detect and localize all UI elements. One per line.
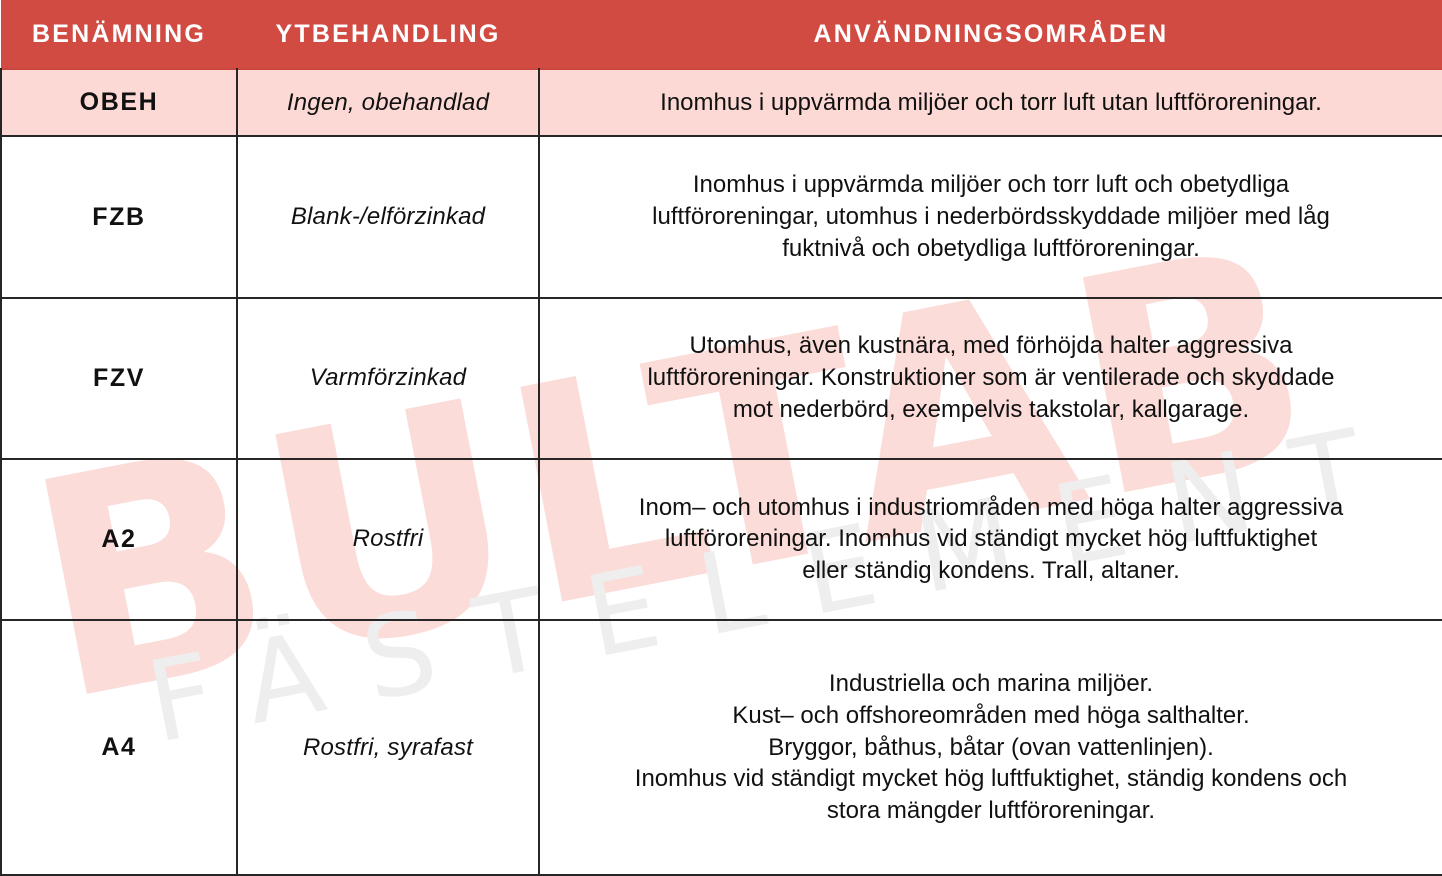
usage-line: stora mängder luftföroreningar. <box>562 795 1420 827</box>
usage-line: luftföroreningar, utomhus i nederbördssk… <box>562 201 1420 233</box>
surface-treatment-table: BENÄMNING YTBEHANDLING ANVÄNDNINGSOMRÅDE… <box>0 0 1442 876</box>
cell-anvandningsomraden: Utomhus, även kustnära, med förhöjda hal… <box>539 298 1442 459</box>
table-body: OBEHIngen, obehandladInomhus i uppvärmda… <box>1 69 1442 875</box>
usage-line: luftföroreningar. Inomhus vid ständigt m… <box>562 523 1420 555</box>
usage-line: Utomhus, även kustnära, med förhöjda hal… <box>562 330 1420 362</box>
usage-line: Bryggor, båthus, båtar (ovan vattenlinje… <box>562 732 1420 764</box>
usage-line: fuktnivå och obetydliga luftföroreningar… <box>562 233 1420 265</box>
cell-benamning: OBEH <box>1 69 237 136</box>
usage-line: Inom– och utomhus i industriområden med … <box>562 492 1420 524</box>
usage-line: Inomhus vid ständigt mycket hög luftfukt… <box>562 763 1420 795</box>
usage-line: Kust– och offshoreområden med höga salth… <box>562 700 1420 732</box>
cell-ytbehandling: Blank-/elförzinkad <box>237 136 539 297</box>
cell-anvandningsomraden: Inom– och utomhus i industriområden med … <box>539 459 1442 620</box>
table-row: OBEHIngen, obehandladInomhus i uppvärmda… <box>1 69 1442 136</box>
cell-benamning: A2 <box>1 459 237 620</box>
column-header-anvandningsomraden: ANVÄNDNINGSOMRÅDEN <box>539 0 1442 69</box>
table-row: A4Rostfri, syrafastIndustriella och mari… <box>1 620 1442 875</box>
cell-ytbehandling: Rostfri <box>237 459 539 620</box>
cell-benamning: FZB <box>1 136 237 297</box>
cell-benamning: A4 <box>1 620 237 875</box>
cell-ytbehandling: Ingen, obehandlad <box>237 69 539 136</box>
cell-ytbehandling: Rostfri, syrafast <box>237 620 539 875</box>
cell-anvandningsomraden: Industriella och marina miljöer.Kust– oc… <box>539 620 1442 875</box>
usage-line: luftföroreningar. Konstruktioner som är … <box>562 362 1420 394</box>
table-row: FZVVarmförzinkadUtomhus, även kustnära, … <box>1 298 1442 459</box>
table-header: BENÄMNING YTBEHANDLING ANVÄNDNINGSOMRÅDE… <box>1 0 1442 69</box>
cell-anvandningsomraden: Inomhus i uppvärmda miljöer och torr luf… <box>539 69 1442 136</box>
column-header-ytbehandling: YTBEHANDLING <box>237 0 539 69</box>
cell-benamning: FZV <box>1 298 237 459</box>
table-row: FZBBlank-/elförzinkadInomhus i uppvärmda… <box>1 136 1442 297</box>
usage-line: Inomhus i uppvärmda miljöer och torr luf… <box>562 87 1420 119</box>
cell-ytbehandling: Varmförzinkad <box>237 298 539 459</box>
usage-line: mot nederbörd, exempelvis takstolar, kal… <box>562 394 1420 426</box>
table-row: A2RostfriInom– och utomhus i industriomr… <box>1 459 1442 620</box>
usage-line: Inomhus i uppvärmda miljöer och torr luf… <box>562 169 1420 201</box>
usage-line: eller ständig kondens. Trall, altaner. <box>562 555 1420 587</box>
usage-line: Industriella och marina miljöer. <box>562 668 1420 700</box>
column-header-benamning: BENÄMNING <box>1 0 237 69</box>
cell-anvandningsomraden: Inomhus i uppvärmda miljöer och torr luf… <box>539 136 1442 297</box>
surface-treatment-table-page: BULTAB FÄSTELEMENT BENÄMNING YTBEHANDLIN… <box>0 0 1442 876</box>
header-row: BENÄMNING YTBEHANDLING ANVÄNDNINGSOMRÅDE… <box>1 0 1442 69</box>
